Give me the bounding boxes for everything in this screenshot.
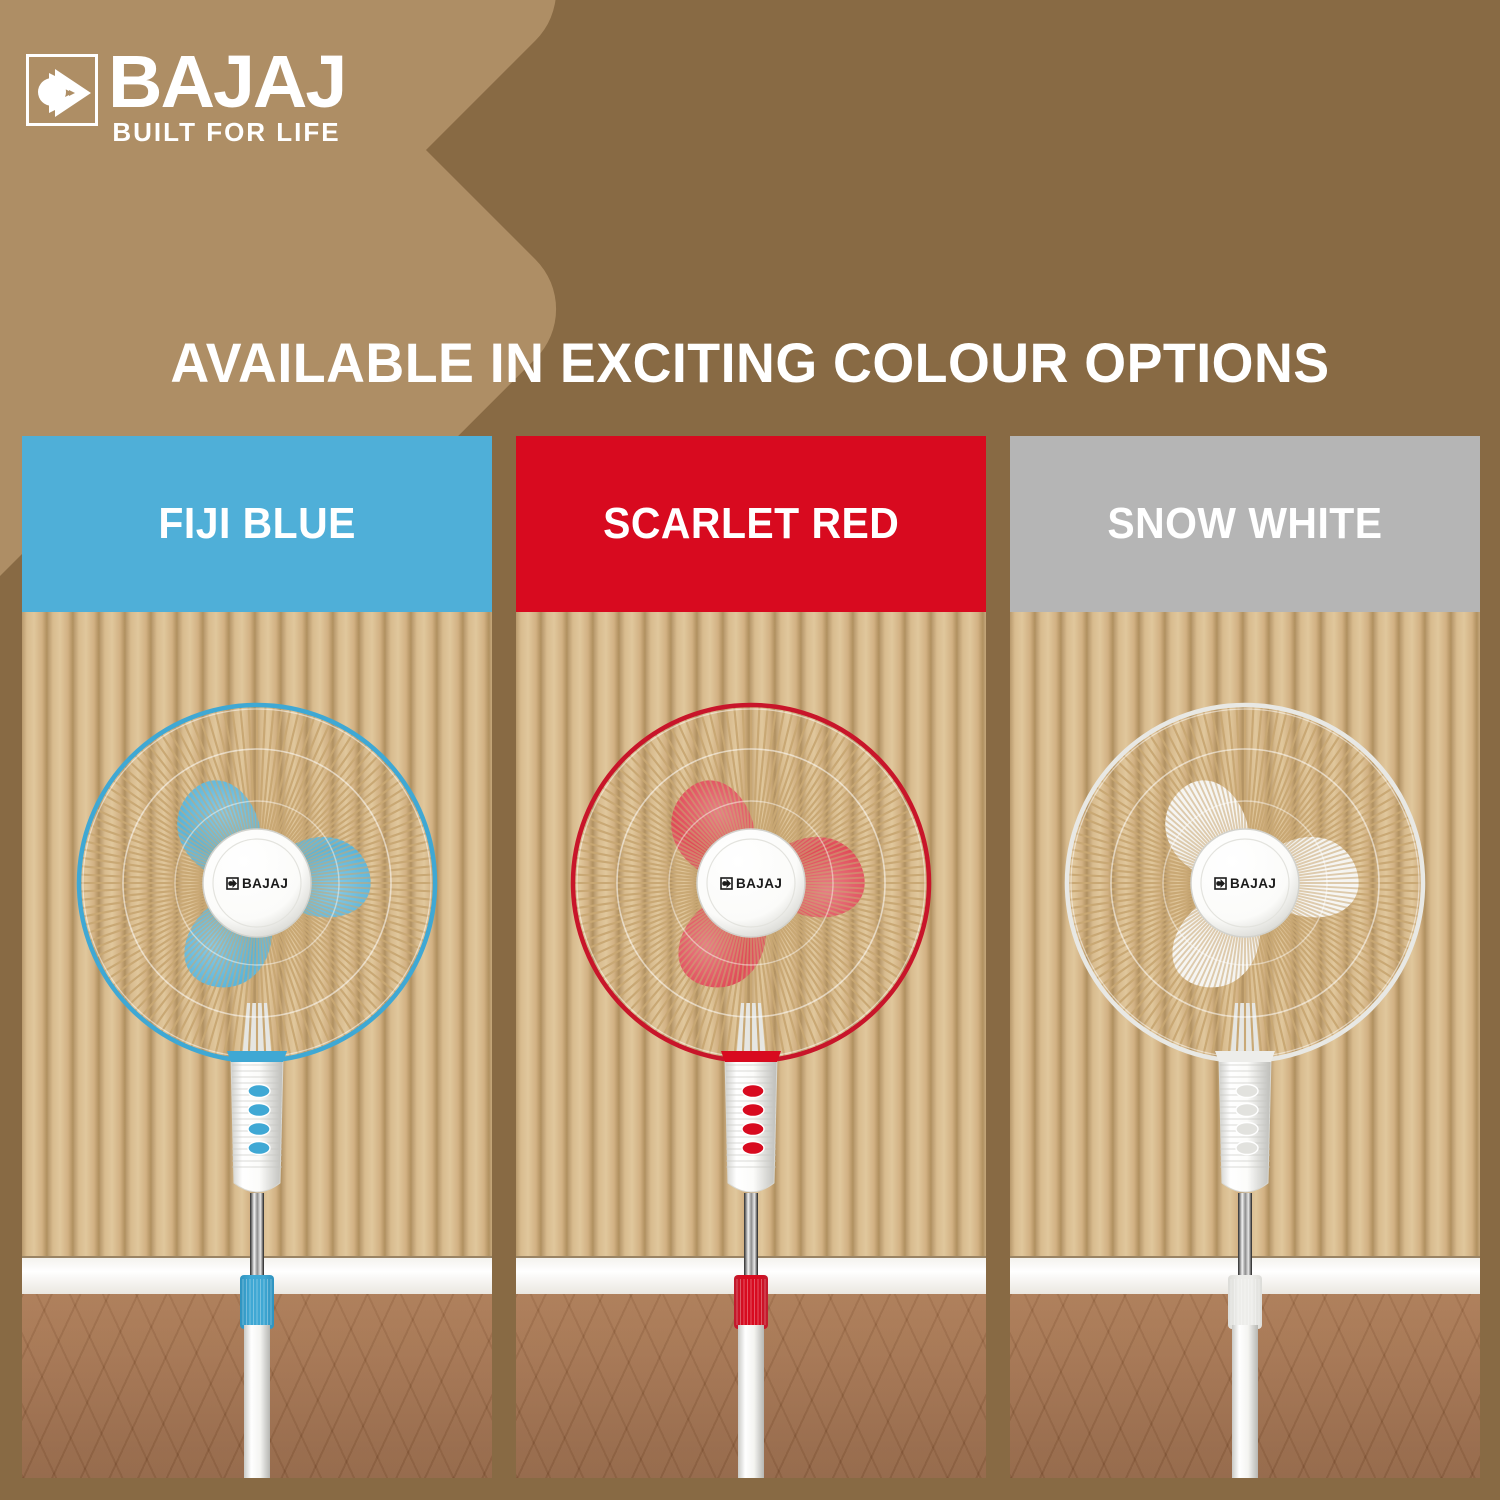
colour-label: SCARLET RED — [603, 499, 899, 549]
colour-banner: SNOW WHITE — [1010, 436, 1480, 612]
page-title: AVAILABLE IN EXCITING COLOUR OPTIONS — [30, 330, 1470, 395]
pedestal-fan-image: BAJAJ — [1010, 688, 1480, 1478]
product-colour-options-banner: BAJAJ BUILT FOR LIFE AVAILABLE IN EXCITI… — [0, 0, 1500, 1500]
svg-text:BAJAJ: BAJAJ — [1230, 876, 1276, 891]
colour-options-row: BAJAJ FIJI BLUE — [22, 436, 1480, 1478]
colour-banner: SCARLET RED — [516, 436, 986, 612]
colour-option-panel[interactable]: BAJAJ SCARLET RED — [516, 436, 986, 1478]
colour-option-panel[interactable]: BAJAJ SNOW WHITE — [1010, 436, 1480, 1478]
colour-label: SNOW WHITE — [1107, 499, 1382, 549]
brand-logo: BAJAJ BUILT FOR LIFE — [26, 52, 341, 148]
svg-text:BAJAJ: BAJAJ — [242, 876, 288, 891]
bajaj-arrow-icon — [26, 54, 98, 126]
colour-option-panel[interactable]: BAJAJ FIJI BLUE — [22, 436, 492, 1478]
svg-text:BAJAJ: BAJAJ — [736, 876, 782, 891]
pedestal-fan-image: BAJAJ — [22, 688, 492, 1478]
colour-label: FIJI BLUE — [158, 499, 355, 549]
colour-banner: FIJI BLUE — [22, 436, 492, 612]
brand-name: BAJAJ — [108, 52, 345, 113]
pedestal-fan-image: BAJAJ — [516, 688, 986, 1478]
